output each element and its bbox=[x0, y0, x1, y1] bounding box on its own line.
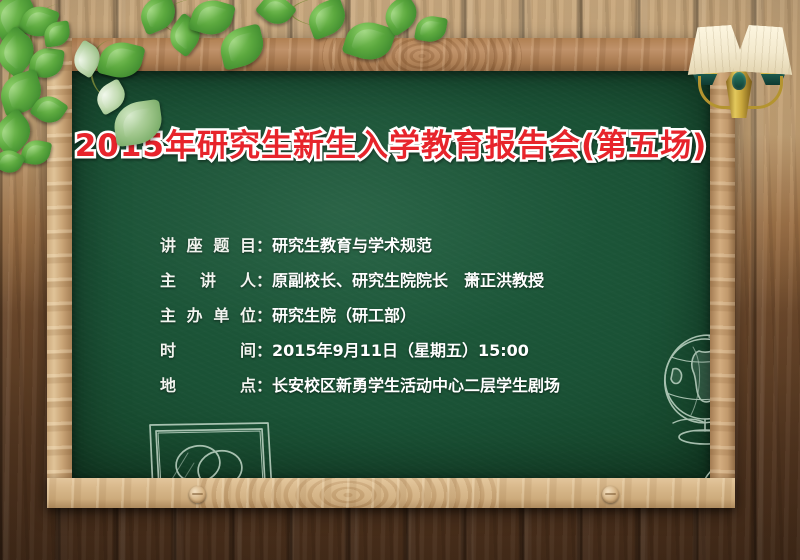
lamp-gem bbox=[732, 72, 746, 90]
frame-top-rail bbox=[47, 38, 735, 71]
lamp-shade-right bbox=[732, 24, 795, 75]
info-value-organizer: 研究生院（研工部） bbox=[272, 302, 416, 326]
ledge-grain bbox=[47, 478, 735, 508]
info-row-organizer: 主办单位 ： 研究生院（研工部） bbox=[160, 302, 680, 326]
info-value-speaker: 原副校长、研究生院院长 萧正洪教授 bbox=[272, 267, 544, 291]
info-list: 讲座题目 ： 研究生教育与学术规范 主讲人 ： 原副校长、研究生院院长 萧正洪教… bbox=[160, 232, 680, 407]
info-row-time: 时间 ： 2015年9月11日（星期五）15:00 bbox=[160, 337, 680, 361]
frame-bottom-ledge bbox=[47, 478, 735, 508]
info-label-time: 时间 bbox=[160, 337, 256, 361]
info-colon-speaker: ： bbox=[256, 267, 272, 291]
ledge-screw-left-icon bbox=[189, 486, 206, 503]
chalkboard-surface: 2015年研究生新生入学教育报告会(第五场) 讲座题目 ： 研究生教育与学术规范… bbox=[72, 71, 710, 478]
info-colon-time: ： bbox=[256, 337, 272, 361]
page-title: 2015年研究生新生入学教育报告会(第五场) bbox=[72, 129, 710, 163]
info-label-organizer: 主办单位 bbox=[160, 302, 256, 326]
frame-top-rail-grain bbox=[47, 38, 735, 71]
ledge-screw-right-icon bbox=[602, 486, 619, 503]
info-value-topic: 研究生教育与学术规范 bbox=[272, 232, 432, 256]
info-row-speaker: 主讲人 ： 原副校长、研究生院院长 萧正洪教授 bbox=[160, 267, 680, 291]
frame-left-rail bbox=[47, 38, 72, 508]
info-label-location: 地点 bbox=[160, 372, 256, 396]
info-colon-organizer: ： bbox=[256, 302, 272, 326]
info-colon-location: ： bbox=[256, 372, 272, 396]
info-label-topic: 讲座题目 bbox=[160, 232, 256, 256]
info-value-location: 长安校区新勇学生活动中心二层学生剧场 bbox=[272, 372, 560, 396]
poster-root: 2015年研究生新生入学教育报告会(第五场) 讲座题目 ： 研究生教育与学术规范… bbox=[0, 0, 800, 560]
info-row-location: 地点 ： 长安校区新勇学生活动中心二层学生剧场 bbox=[160, 372, 680, 396]
info-value-time: 2015年9月11日（星期五）15:00 bbox=[272, 337, 529, 361]
wall-lamp bbox=[684, 14, 796, 136]
info-row-topic: 讲座题目 ： 研究生教育与学术规范 bbox=[160, 232, 680, 256]
info-label-speaker: 主讲人 bbox=[160, 267, 256, 291]
info-colon-topic: ： bbox=[256, 232, 272, 256]
